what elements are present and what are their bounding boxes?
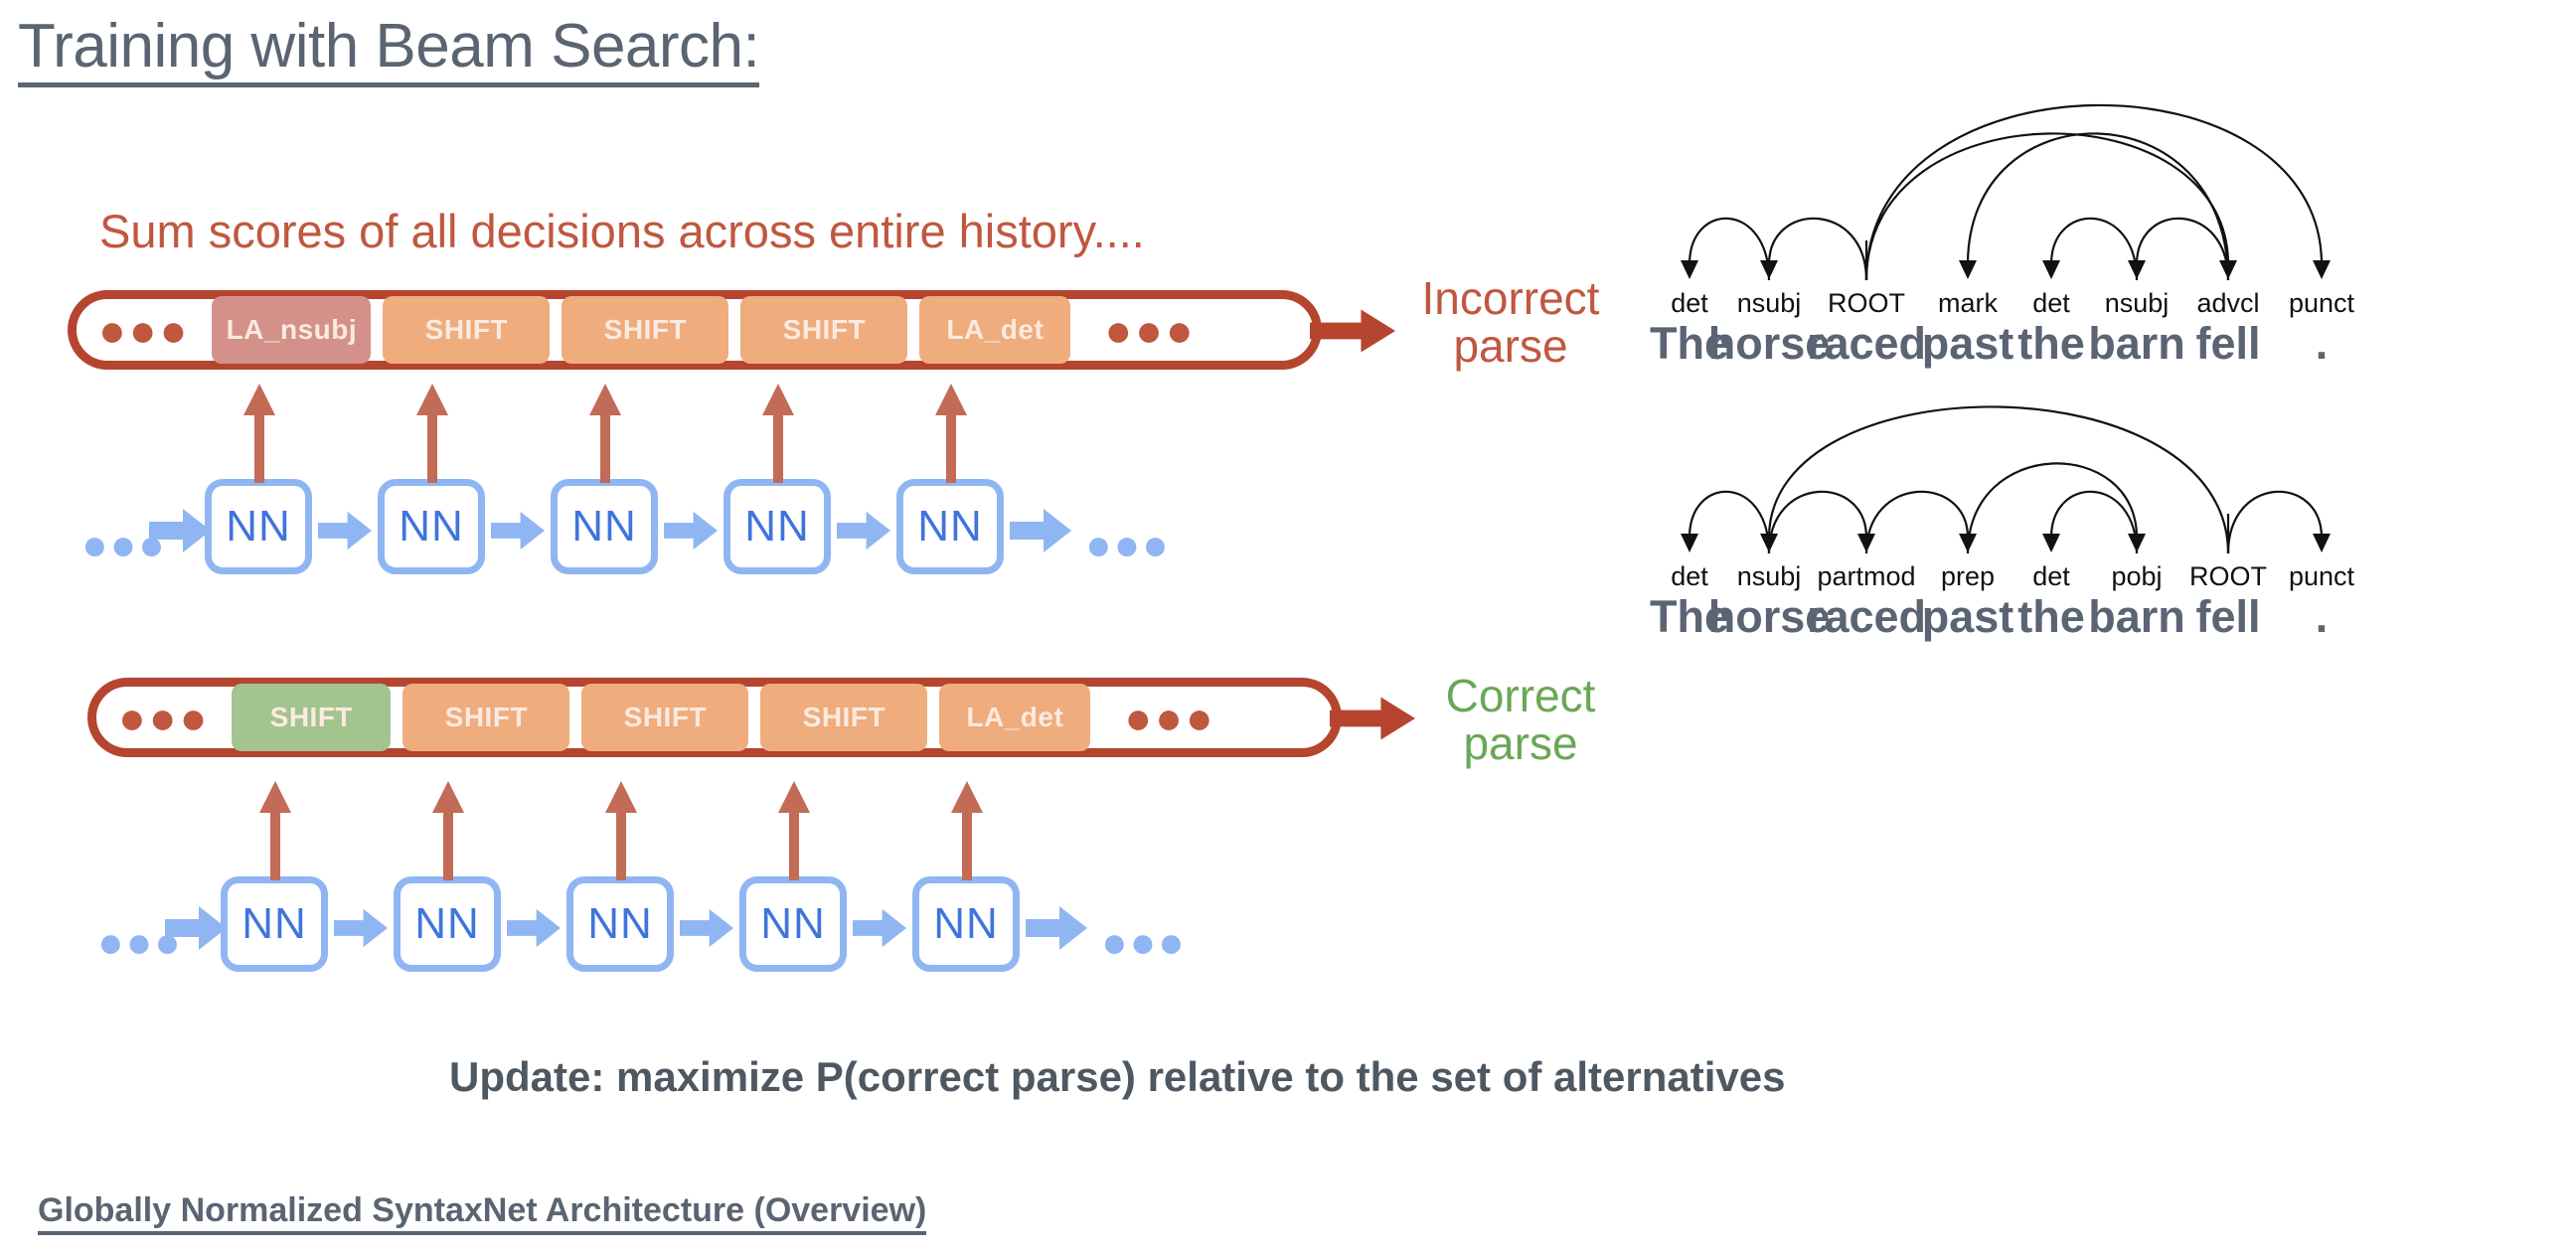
action-pill[interactable]: SHIFT xyxy=(402,684,569,751)
nn-link-arrow-icon xyxy=(664,509,718,552)
leading-ellipsis: ●●● xyxy=(96,708,232,726)
nn-to-action-arrow-icon xyxy=(589,384,621,483)
dependency-arc xyxy=(1769,406,2228,553)
dependency-arcs xyxy=(1650,60,2544,308)
nn-box[interactable]: NN xyxy=(912,876,1020,972)
update-caption: Update: maximize P(correct parse) relati… xyxy=(449,1053,1785,1101)
sentence-word: barn xyxy=(2088,591,2185,643)
nn-link-arrow-icon xyxy=(507,906,561,950)
arc-arrowhead-icon xyxy=(1681,534,1698,552)
action-pill[interactable]: LA_det xyxy=(939,684,1090,751)
action-pill[interactable]: SHIFT xyxy=(740,296,907,364)
nn-to-action-arrow-icon xyxy=(416,384,448,483)
sentence-word: . xyxy=(2316,591,2329,643)
dependency-arc xyxy=(1690,492,1769,553)
nn-box[interactable]: NN xyxy=(221,876,328,972)
nn-box[interactable]: NN xyxy=(566,876,674,972)
nn-to-action-arrow-icon xyxy=(605,781,637,880)
dep-label: nsubj xyxy=(1737,288,1802,319)
dep-label: mark xyxy=(1938,288,1998,319)
trailing-ellipsis: ●●● xyxy=(1102,708,1237,726)
dependency-arcs xyxy=(1650,333,2544,581)
action-pill[interactable]: LA_nsubj xyxy=(212,296,371,364)
nn-link-arrow-icon xyxy=(318,509,372,552)
arc-arrowhead-icon xyxy=(2042,534,2060,552)
nn-output-arrow-icon xyxy=(1026,906,1087,950)
outcome-label-correct: Correct parse xyxy=(1401,672,1640,768)
correct-parse-tree: detnsubjpartmodprepdetpobjROOTpunct xyxy=(1650,333,2544,581)
arc-arrowhead-icon xyxy=(2042,260,2060,279)
nn-box[interactable]: NN xyxy=(896,479,1004,574)
nn-to-action-arrow-icon xyxy=(259,781,291,880)
sentence-word: past xyxy=(1922,591,2014,643)
dep-label: pobj xyxy=(2111,561,2162,592)
dep-label: punct xyxy=(2289,288,2354,319)
action-capsule-correct: ●●● SHIFT SHIFT SHIFT SHIFT LA_det ●●● xyxy=(87,678,1342,757)
action-pill[interactable]: SHIFT xyxy=(581,684,748,751)
dep-label: prep xyxy=(1941,561,1995,592)
incorrect-parse-tree: detnsubjROOTmarkdetnsubjadvclpunct xyxy=(1650,60,2544,308)
sentence-word: fell xyxy=(2195,591,2260,643)
action-pill[interactable]: SHIFT xyxy=(232,684,391,751)
dependency-arc xyxy=(1866,133,2228,280)
dependency-arc xyxy=(2051,219,2137,280)
nn-link-arrow-icon xyxy=(680,906,733,950)
dependency-arc xyxy=(2228,492,2322,553)
dep-label: partmod xyxy=(1817,561,1915,592)
leading-ellipsis: ●●● xyxy=(77,321,212,339)
correct-parse-sentence: Thehorseracedpastthebarnfell. xyxy=(1650,591,2544,661)
arc-arrowhead-icon xyxy=(1760,260,1778,279)
action-pill[interactable]: LA_det xyxy=(919,296,1070,364)
outcome-label-incorrect: Incorrect parse xyxy=(1391,274,1630,371)
trailing-ellipsis: ●●● xyxy=(1082,321,1217,339)
dep-label: det xyxy=(2032,561,2070,592)
nn-link-arrow-icon xyxy=(334,906,388,950)
nn-input-arrow-icon xyxy=(149,509,211,552)
dependency-arc xyxy=(1866,492,1968,553)
nn-link-arrow-icon xyxy=(853,906,906,950)
nn-to-action-arrow-icon xyxy=(951,781,983,880)
capsule-exit-arrow-icon xyxy=(1310,308,1395,354)
nn-output-arrow-icon xyxy=(1010,509,1071,552)
action-pill[interactable]: SHIFT xyxy=(562,296,728,364)
nn-box[interactable]: NN xyxy=(724,479,831,574)
dependency-arc xyxy=(1769,219,1866,280)
dep-label: ROOT xyxy=(2189,561,2267,592)
dep-label: advcl xyxy=(2196,288,2259,319)
arc-arrowhead-icon xyxy=(2313,260,2331,279)
dependency-arc xyxy=(2051,492,2137,553)
nn-box[interactable]: NN xyxy=(394,876,501,972)
dependency-arc xyxy=(1690,219,1769,280)
arc-arrowhead-icon xyxy=(1681,260,1698,279)
arc-arrowhead-icon xyxy=(1959,260,1977,279)
dep-label: ROOT xyxy=(1828,288,1905,319)
action-capsule-incorrect: ●●● LA_nsubj SHIFT SHIFT SHIFT LA_det ●●… xyxy=(68,290,1322,370)
nn-to-action-arrow-icon xyxy=(243,384,275,483)
dep-label: det xyxy=(2032,288,2070,319)
dep-label: nsubj xyxy=(2105,288,2170,319)
nn-link-arrow-icon xyxy=(837,509,890,552)
dependency-arc xyxy=(2137,219,2228,280)
page-title: Training with Beam Search: xyxy=(18,14,759,87)
nn-to-action-arrow-icon xyxy=(935,384,967,483)
dependency-arc xyxy=(1866,105,2322,280)
sum-scores-caption: Sum scores of all decisions across entir… xyxy=(99,204,1145,258)
arc-arrowhead-icon xyxy=(2128,534,2146,552)
nn-input-arrow-icon xyxy=(165,906,227,950)
sentence-word: raced xyxy=(1807,591,1926,643)
sentence-word: the xyxy=(2017,591,2085,643)
nn-to-action-arrow-icon xyxy=(778,781,810,880)
nn-link-arrow-icon xyxy=(491,509,545,552)
nn-box[interactable]: NN xyxy=(378,479,485,574)
nn-trailing-ellipsis: ●●● xyxy=(1085,537,1171,554)
nn-to-action-arrow-icon xyxy=(762,384,794,483)
dep-label: punct xyxy=(2289,561,2354,592)
nn-trailing-ellipsis: ●●● xyxy=(1101,934,1187,952)
nn-box[interactable]: NN xyxy=(551,479,658,574)
action-pill[interactable]: SHIFT xyxy=(383,296,550,364)
nn-box[interactable]: NN xyxy=(739,876,847,972)
dep-label: det xyxy=(1671,288,1708,319)
dep-label: nsubj xyxy=(1737,561,1802,592)
arc-arrowhead-icon xyxy=(2313,534,2331,552)
dependency-arc xyxy=(1769,492,1866,553)
action-pill[interactable]: SHIFT xyxy=(760,684,927,751)
nn-to-action-arrow-icon xyxy=(432,781,464,880)
nn-box[interactable]: NN xyxy=(205,479,312,574)
arc-arrowhead-icon xyxy=(2219,260,2237,279)
footer-title: Globally Normalized SyntaxNet Architectu… xyxy=(38,1192,926,1235)
dep-label: det xyxy=(1671,561,1708,592)
arc-arrowhead-icon xyxy=(2128,260,2146,279)
dependency-arc xyxy=(1968,133,2228,280)
